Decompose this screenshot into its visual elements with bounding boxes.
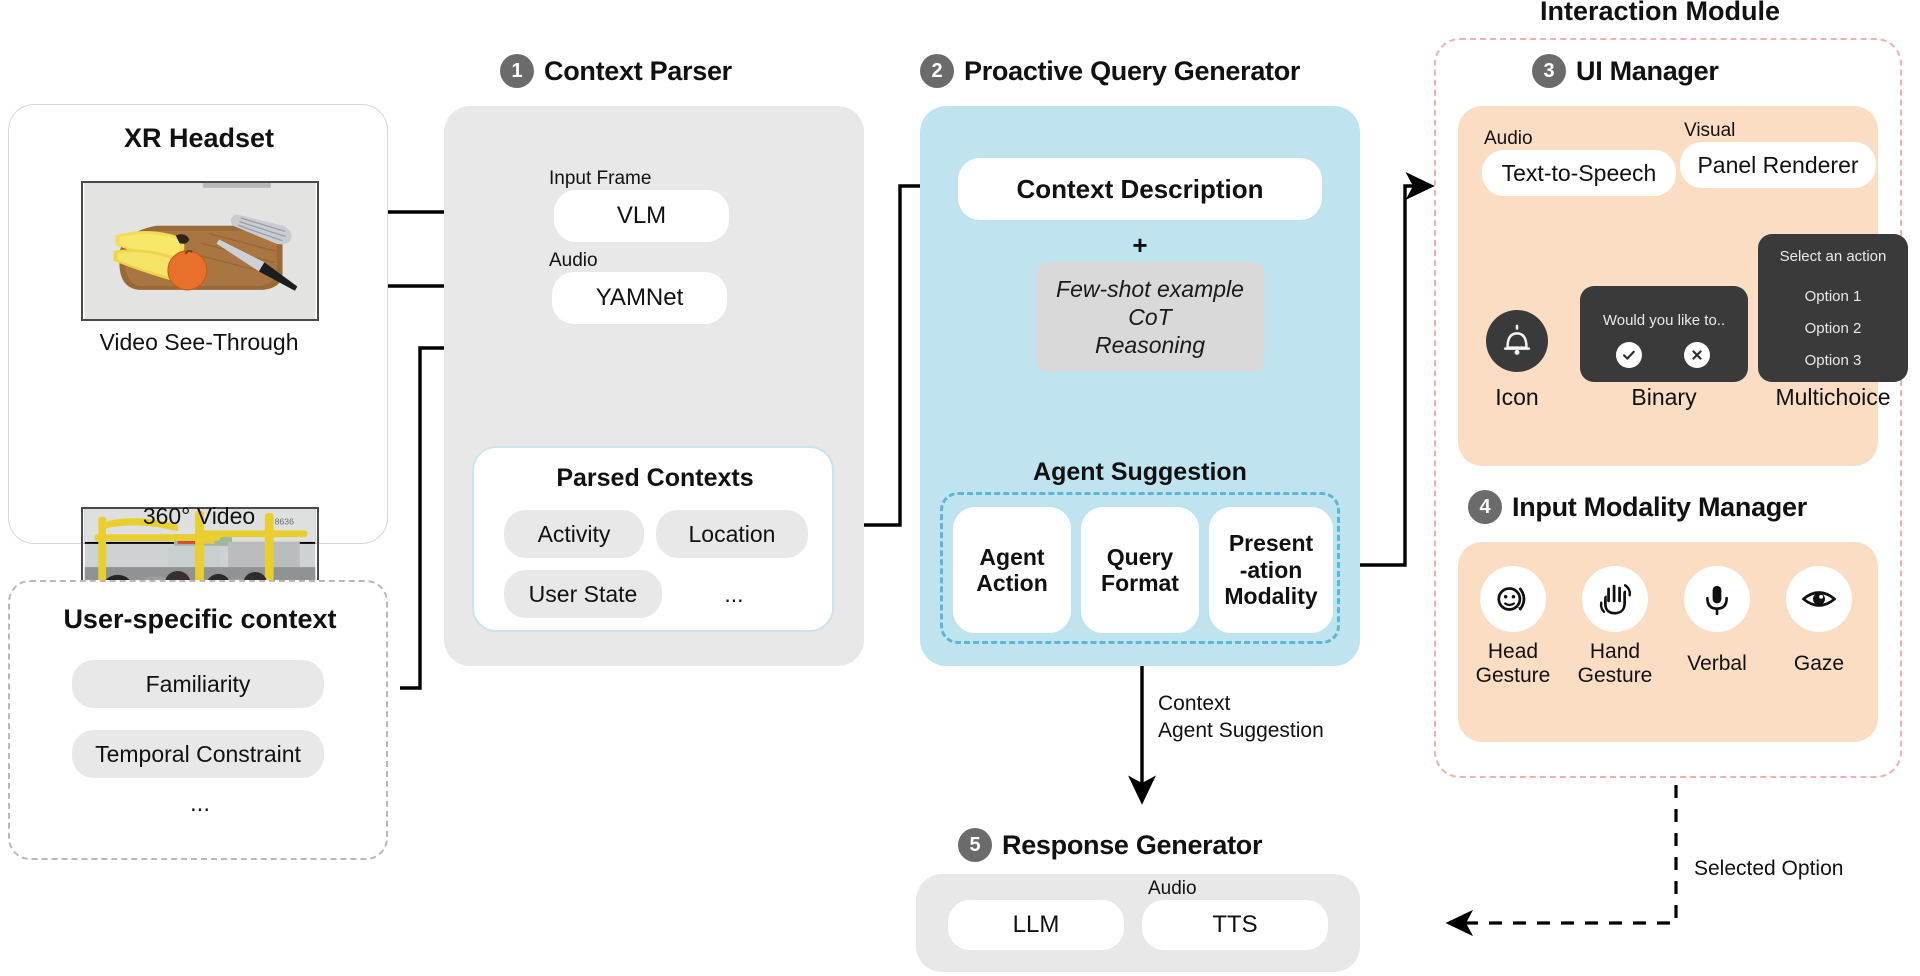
presentation-modality-line-3: Modality [1224,583,1317,609]
text-to-speech-box[interactable]: Text-to-Speech [1482,150,1676,196]
edge-label-line-2: Agent Suggestion [1158,717,1324,744]
plus-symbol: + [920,230,1360,261]
xr-headset-title: XR Headset [9,123,389,154]
hand-gesture-line-1: Hand [1560,640,1670,664]
check-icon[interactable] [1616,342,1642,368]
bell-icon[interactable] [1486,310,1548,372]
step-badge-3: 3 [1532,54,1566,88]
yamnet-box[interactable]: YAMNet [552,272,727,324]
head-gesture-line-2: Gesture [1458,664,1568,688]
input-modality-panel: Head Gesture Hand Gesture [1458,542,1878,742]
panel-renderer-box[interactable]: Panel Renderer [1680,142,1876,188]
head-gesture-icon[interactable] [1480,566,1546,632]
modality-caption-verbal: Verbal [1662,652,1772,676]
response-generator-panel: LLM Audio TTS [916,874,1360,972]
fewshot-line-2: CoT [1128,303,1171,331]
agent-action-line-2: Action [976,570,1048,596]
user-specific-context-panel: User-specific context Familiarity Tempor… [8,580,388,860]
modality-caption-gaze: Gaze [1764,652,1874,676]
context-parser-heading: 1 Context Parser [500,54,732,88]
ui-widget-caption-multichoice: Multichoice [1750,384,1916,411]
microphone-icon[interactable] [1684,566,1750,632]
input-modality-title: Input Modality Manager [1512,492,1807,523]
input-frame-label: Input Frame [549,168,651,190]
suggestion-query-format[interactable]: Query Format [1081,507,1199,633]
tts-box[interactable]: TTS [1142,900,1328,950]
fewshot-line-1: Few-shot example [1056,275,1244,303]
user-context-item-temporal-constraint[interactable]: Temporal Constraint [72,730,324,778]
query-format-line-1: Query [1107,544,1173,570]
cross-icon[interactable] [1684,342,1710,368]
video-see-through-image [81,181,319,321]
binary-prompt: Would you like to.. [1580,312,1748,329]
response-audio-label: Audio [1148,878,1197,900]
user-specific-context-title: User-specific context [10,604,390,635]
hand-gesture-icon[interactable] [1582,566,1648,632]
gaze-line-1: Gaze [1764,652,1874,676]
modality-caption-head-gesture: Head Gesture [1458,640,1568,687]
response-generator-title: Response Generator [1002,830,1262,861]
input-modality-heading: 4 Input Modality Manager [1468,490,1807,524]
ui-manager-heading: 3 UI Manager [1532,54,1719,88]
presentation-modality-line-2: -ation [1240,557,1303,583]
suggestion-agent-action[interactable]: Agent Action [953,507,1071,633]
modality-caption-hand-gesture: Hand Gesture [1560,640,1670,687]
selected-option-arrow [1450,785,1676,923]
head-gesture-line-1: Head [1458,640,1568,664]
multichoice-option-1[interactable]: Option 1 [1758,288,1908,305]
multichoice-option-3[interactable]: Option 3 [1758,352,1908,369]
user-context-ellipsis: ... [10,790,390,818]
suggestion-presentation-modality[interactable]: Present -ation Modality [1209,507,1333,633]
audio-label: Audio [549,250,598,272]
fewshot-line-3: Reasoning [1095,331,1205,359]
ui-widget-caption-binary: Binary [1580,384,1748,411]
query-format-line-2: Format [1101,570,1179,596]
video-360-caption: 360° Video [9,503,389,530]
parsed-context-ellipsis: ... [674,570,794,618]
agent-suggestion-group: Agent Action Query Format Present -ation… [940,492,1340,644]
edge-label-line-1: Context [1158,690,1324,717]
step-badge-2: 2 [920,54,954,88]
ui-audio-label: Audio [1484,128,1533,150]
vlm-box[interactable]: VLM [554,190,729,242]
multichoice-widget[interactable]: Select an action Option 1 Option 2 Optio… [1758,234,1908,382]
interaction-module-title: Interaction Module [1430,0,1890,27]
step-badge-4: 4 [1468,490,1502,524]
query-generator-heading: 2 Proactive Query Generator [920,54,1300,88]
step-badge-1: 1 [500,54,534,88]
parsed-context-location[interactable]: Location [656,510,808,558]
edge-label-context-agent-suggestion: Context Agent Suggestion [1158,690,1324,745]
xr-headset-panel: XR Headset [8,104,388,544]
fewshot-cot-box: Few-shot example CoT Reasoning [1036,262,1264,372]
ui-widget-caption-icon: Icon [1458,384,1576,411]
query-generator-panel: Context Description + Few-shot example C… [920,106,1360,666]
llm-box[interactable]: LLM [948,900,1124,950]
step-badge-5: 5 [958,828,992,862]
context-parser-title: Context Parser [544,56,732,87]
presentation-modality-line-1: Present [1229,530,1313,556]
diagram-canvas: XR Headset [0,0,1920,976]
multichoice-prompt: Select an action [1758,248,1908,265]
ui-visual-label: Visual [1684,120,1735,142]
eye-icon[interactable] [1786,566,1852,632]
parsed-contexts-card: Parsed Contexts Activity Location User S… [472,446,834,632]
ui-manager-title: UI Manager [1576,56,1719,87]
hand-gesture-line-2: Gesture [1560,664,1670,688]
context-description-box[interactable]: Context Description [958,158,1322,220]
agent-suggestion-title: Agent Suggestion [920,458,1360,487]
ui-manager-panel: Audio Text-to-Speech Visual Panel Render… [1458,106,1878,466]
selected-option-label: Selected Option [1694,855,1843,882]
response-generator-heading: 5 Response Generator [958,828,1262,862]
multichoice-option-2[interactable]: Option 2 [1758,320,1908,337]
parsed-context-user-state[interactable]: User State [504,570,662,618]
parsed-context-activity[interactable]: Activity [504,510,644,558]
binary-widget[interactable]: Would you like to.. [1580,286,1748,382]
video-see-through-caption: Video See-Through [9,329,389,356]
verbal-line-1: Verbal [1662,652,1772,676]
context-parser-panel: Input Frame VLM Audio YAMNet Parsed Cont… [444,106,864,666]
query-generator-title: Proactive Query Generator [964,56,1300,87]
agent-action-line-1: Agent [979,544,1044,570]
user-context-item-familiarity[interactable]: Familiarity [72,660,324,708]
parsed-contexts-title: Parsed Contexts [474,464,836,493]
